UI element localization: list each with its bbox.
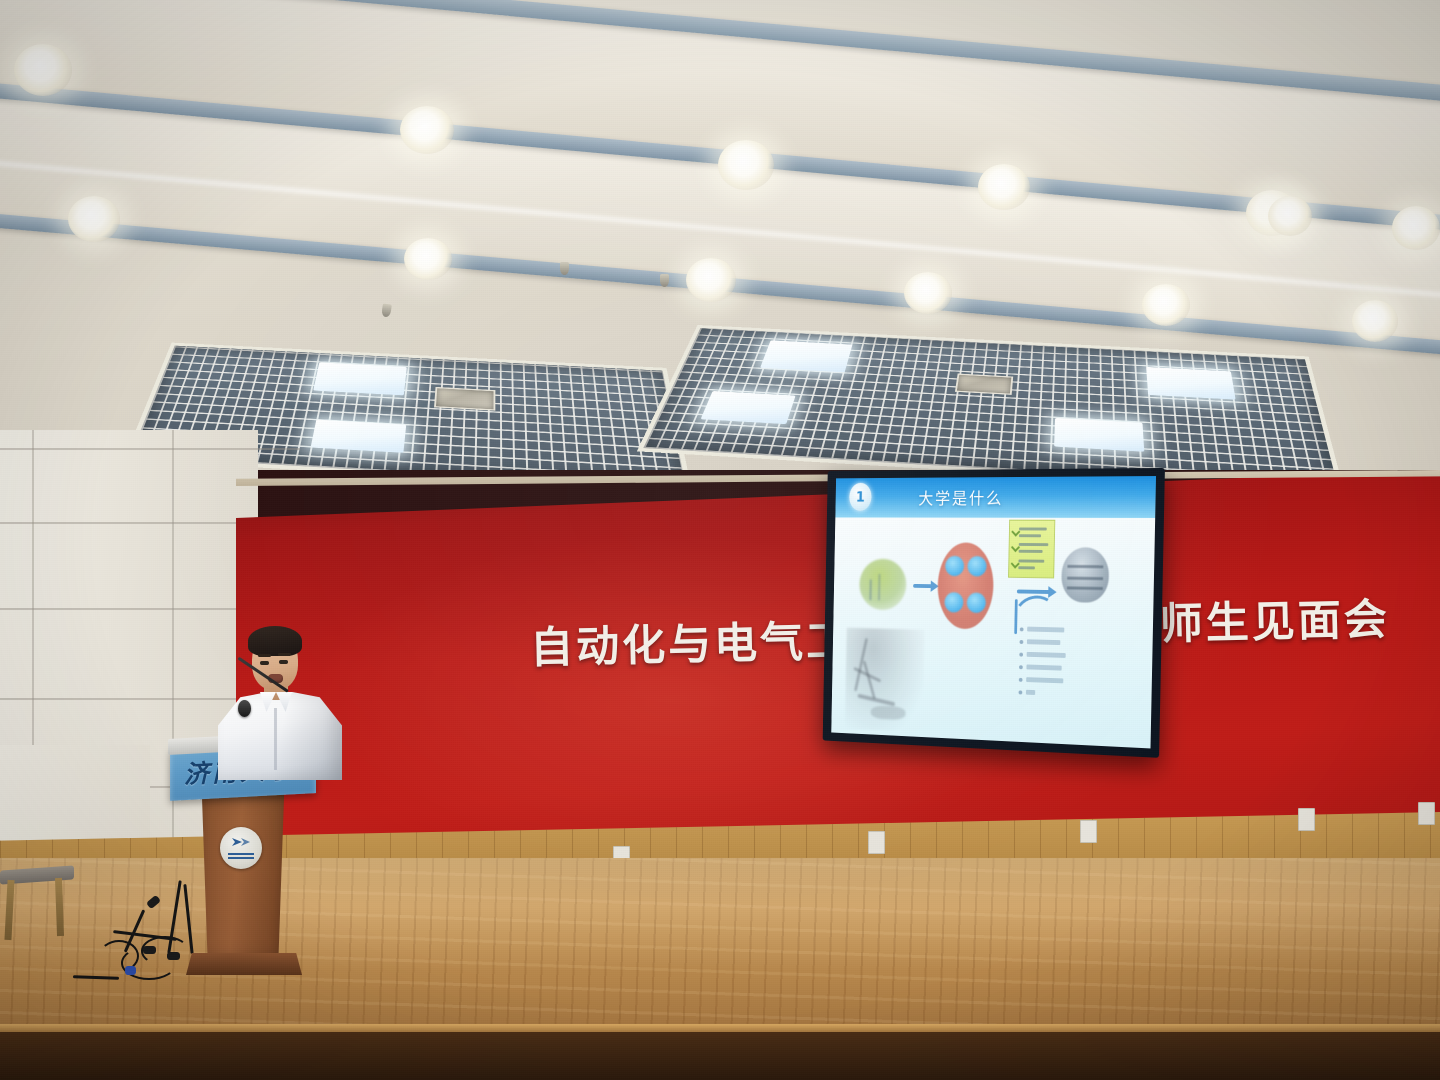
diagram-node <box>944 592 963 612</box>
downlight-icon <box>400 106 454 154</box>
list-item <box>1019 650 1088 662</box>
ink-wash-landscape <box>845 628 925 733</box>
speaker-brow <box>278 653 291 656</box>
hvac-diffuser-icon <box>955 374 1013 395</box>
four-node-diagram <box>937 542 994 629</box>
diagram-node <box>967 556 986 576</box>
downlight-icon <box>1268 196 1312 236</box>
microphone-icon <box>238 700 251 717</box>
downlight-icon <box>1142 284 1190 326</box>
crest-logo-icon <box>230 837 252 849</box>
presentation-slide: 1 大学是什么 <box>831 476 1156 748</box>
vertical-connector <box>1014 599 1017 634</box>
downlight-icon <box>1352 300 1398 342</box>
outlet-plate <box>1418 802 1435 825</box>
speaker-eye <box>279 660 288 664</box>
projection-screen: 1 大学是什么 <box>823 468 1165 758</box>
list-item <box>1020 625 1089 637</box>
ceiling <box>0 0 1440 470</box>
flow-arrow-1 <box>913 584 932 588</box>
downlight-icon <box>904 272 952 314</box>
downlight-icon <box>978 164 1030 210</box>
speaker-brow <box>258 654 271 657</box>
downlight-icon <box>14 44 72 96</box>
cable-blue-connector <box>125 966 136 975</box>
downlight-icon <box>718 140 774 190</box>
grid-ceiling-panel <box>637 325 1345 470</box>
speaker-eye <box>260 661 269 665</box>
cable-connector <box>146 895 161 909</box>
cable-connector <box>143 946 156 954</box>
hvac-diffuser-icon <box>434 387 495 411</box>
stage-front-face <box>0 1032 1440 1080</box>
sprinkler-icon <box>381 303 392 317</box>
slide-title: 大学是什么 <box>918 485 1003 509</box>
downlight-icon <box>686 258 736 302</box>
stool-leg <box>4 880 14 940</box>
troffer-light-icon <box>1054 418 1144 452</box>
speaker-shirt <box>218 692 342 780</box>
diagram-node <box>945 556 964 576</box>
sprinkler-icon <box>560 262 569 275</box>
list-item <box>1019 662 1088 674</box>
flow-arrow-2 <box>1017 590 1050 594</box>
list-item <box>1018 688 1087 700</box>
downlight-icon <box>1392 206 1440 250</box>
university-crest-icon <box>220 827 262 869</box>
banner-text-left: 自动化与电气工 <box>530 615 853 676</box>
downlight-icon <box>68 196 120 242</box>
campus-photo-thumb <box>859 559 907 611</box>
troffer-light-icon <box>701 391 796 424</box>
cable-run <box>73 975 119 980</box>
photo-scene: 自动化与电气工 生师生见面会 1 大学是什么 <box>0 0 1440 1080</box>
slide-callout-box <box>1008 520 1055 579</box>
outlet-plate <box>1298 808 1315 831</box>
outlet-plate <box>868 831 885 854</box>
outlet-plate <box>1080 820 1097 843</box>
list-item <box>1019 637 1088 649</box>
podium-base <box>186 953 302 975</box>
troffer-light-icon <box>760 340 852 372</box>
downlight-icon <box>404 238 452 280</box>
list-item <box>1019 675 1088 687</box>
speaker-shirt-placket <box>274 708 277 770</box>
sprinkler-icon <box>660 274 669 287</box>
troffer-light-icon <box>311 420 407 453</box>
slide-bullet-list <box>1018 625 1088 703</box>
diagram-node <box>967 593 986 614</box>
troffer-light-icon <box>313 362 407 395</box>
troffer-light-icon <box>1146 367 1235 400</box>
podium-body <box>194 793 292 963</box>
speaker-hair <box>248 626 302 656</box>
engineering-helmet-photo <box>1061 547 1109 603</box>
